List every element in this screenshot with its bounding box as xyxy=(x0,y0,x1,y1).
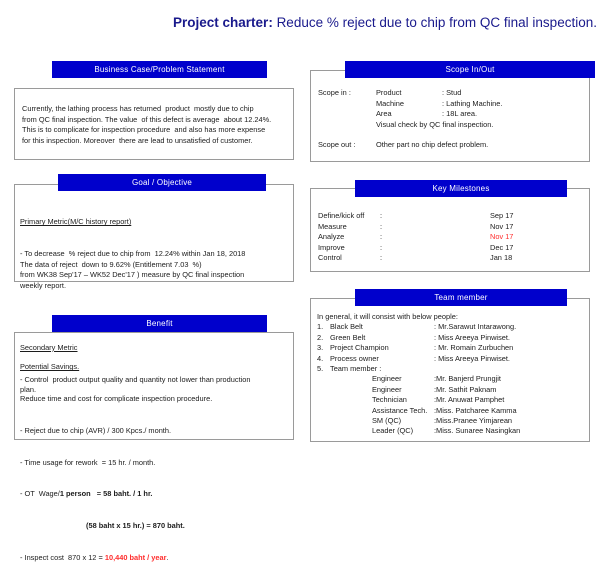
benefit-line-3: - Time usage for rework = 15 hr. / month… xyxy=(20,458,288,469)
team-index: 4. xyxy=(317,354,330,364)
scope-in-row: Machine : Lathing Machine. xyxy=(318,99,590,110)
team-sub-person: :Mr. Banjerd Prungjit xyxy=(434,374,587,384)
milestone-date: Nov 17 xyxy=(490,222,584,233)
scope-in-note: Visual check by QC final inspection. xyxy=(376,120,590,131)
scope-content: Scope in : Product : Stud Machine : Lath… xyxy=(318,88,590,151)
milestone-colon: : xyxy=(380,211,490,222)
scope-in-item-0: Product xyxy=(376,88,442,99)
inspect-cost-total: 10,440 baht / year xyxy=(105,553,167,562)
business-case-header: Business Case/Problem Statement xyxy=(52,61,267,78)
milestone-name: Control xyxy=(318,253,380,264)
milestone-name: Measure xyxy=(318,222,380,233)
milestone-date: Jan 18 xyxy=(490,253,584,264)
ot-wage-prefix: - OT Wage/ xyxy=(20,489,60,498)
milestone-row: Define/kick off : Sep 17 xyxy=(318,211,584,222)
page-title-separator: : xyxy=(268,15,276,30)
page-title-subject: Reduce % reject due to chip from QC fina… xyxy=(277,15,597,30)
inspect-cost-suffix: . xyxy=(166,553,168,562)
milestone-row: Measure : Nov 17 xyxy=(318,222,584,233)
scope-out-value: Other part no chip defect problem. xyxy=(376,140,590,151)
team-sub-role: Assistance Tech. xyxy=(372,406,434,416)
team-role: Project Champion xyxy=(330,343,434,353)
scope-out-label: Scope out : xyxy=(318,140,376,151)
team-sub-person: :Mr. Sathit Paknam xyxy=(434,385,587,395)
milestone-row: Analyze : Nov 17 xyxy=(318,232,584,243)
scope-in-value-2: : 18L area. xyxy=(442,109,590,120)
primary-metric-text: - To decrease % reject due to chip from … xyxy=(20,249,290,291)
team-member-header: Team member xyxy=(355,289,567,306)
benefit-text: Potential Savings. Reduce time and cost … xyxy=(20,341,288,585)
team-sub-row: Engineer :Mr. Banjerd Prungjit xyxy=(317,374,587,384)
team-person: : Mr. Romain Zurbuchen xyxy=(434,343,587,353)
team-role: Process owner xyxy=(330,354,434,364)
potential-savings-title: Potential Savings. xyxy=(20,362,288,373)
benefit-line-5: (58 baht x 15 hr.) = 870 baht. xyxy=(20,521,288,532)
scope-in-row: Area : 18L area. xyxy=(318,109,590,120)
team-person: : Miss Areeya Pinwiset. xyxy=(434,333,587,343)
team-person: : Mr.Sarawut Intarawong. xyxy=(434,322,587,332)
team-sub-role: Engineer xyxy=(372,374,434,384)
scope-in-label: Scope in : xyxy=(318,88,376,99)
team-role: Green Belt xyxy=(330,333,434,343)
team-sub-row: Technician :Mr. Anuwat Pamphet xyxy=(317,395,587,405)
team-sub-person: :Mr. Anuwat Pamphet xyxy=(434,395,587,405)
scope-in-item-1: Machine xyxy=(376,99,442,110)
milestone-name: Analyze xyxy=(318,232,380,243)
scope-spacer xyxy=(318,99,376,110)
team-sub-person: :Miss. Sunaree Nasingkan xyxy=(434,426,587,436)
benefit-line-2: - Reject due to chip (AVR) / 300 Kpcs./ … xyxy=(20,426,288,437)
benefit-header: Benefit xyxy=(52,315,267,332)
team-index: 3. xyxy=(317,343,330,353)
scope-out-row: Scope out : Other part no chip defect pr… xyxy=(318,140,590,151)
scope-header: Scope In/Out xyxy=(345,61,595,78)
team-sub-row: SM (QC) :Miss.Pranee Yimjarean xyxy=(317,416,587,426)
project-charter-slide: Project charter: Reduce % reject due to … xyxy=(0,0,600,450)
milestone-row: Control : Jan 18 xyxy=(318,253,584,264)
benefit-line-6: - Inspect cost 870 x 12 = 10,440 baht / … xyxy=(20,553,288,564)
key-milestones-list: Define/kick off : Sep 17 Measure : Nov 1… xyxy=(318,211,584,264)
team-index: 5. xyxy=(317,364,330,374)
page-title-label: Project charter xyxy=(173,15,268,30)
inspect-cost-prefix: - Inspect cost 870 x 12 = xyxy=(20,553,105,562)
ot-wage-value: 1 person = 58 baht. / 1 hr. xyxy=(60,489,153,498)
scope-in-item-2: Area xyxy=(376,109,442,120)
team-sub-row: Assistance Tech. :Miss. Patcharee Kamma xyxy=(317,406,587,416)
team-intro: In general, it will consist with below p… xyxy=(317,312,587,322)
milestone-colon: : xyxy=(380,222,490,233)
milestone-name: Define/kick off xyxy=(318,211,380,222)
team-index: 2. xyxy=(317,333,330,343)
team-sub-role: Technician xyxy=(372,395,434,405)
team-person xyxy=(434,364,587,374)
team-sub-person: :Miss.Pranee Yimjarean xyxy=(434,416,587,426)
team-index: 1. xyxy=(317,322,330,332)
primary-metric-title: Primary Metric(M/C history report) xyxy=(20,217,290,228)
team-member-list: In general, it will consist with below p… xyxy=(317,312,587,437)
scope-in-value-0: : Stud xyxy=(442,88,590,99)
team-role: Team member : xyxy=(330,364,434,374)
benefit-line-4: - OT Wage/1 person = 58 baht. / 1 hr. xyxy=(20,489,288,500)
benefit-line-1: Reduce time and cost for complicate insp… xyxy=(20,394,288,405)
team-sub-role: Engineer xyxy=(372,385,434,395)
milestone-colon: : xyxy=(380,232,490,243)
team-sub-role: SM (QC) xyxy=(372,416,434,426)
goal-objective-header: Goal / Objective xyxy=(58,174,266,191)
team-sub-person: :Miss. Patcharee Kamma xyxy=(434,406,587,416)
business-case-text: Currently, the lathing process has retur… xyxy=(22,104,288,146)
team-sub-row: Leader (QC) :Miss. Sunaree Nasingkan xyxy=(317,426,587,436)
scope-in-value-1: : Lathing Machine. xyxy=(442,99,590,110)
page-title: Project charter: Reduce % reject due to … xyxy=(170,14,600,31)
key-milestones-header: Key Milestones xyxy=(355,180,567,197)
scope-in-row: Scope in : Product : Stud xyxy=(318,88,590,99)
team-role: Black Belt xyxy=(330,322,434,332)
scope-spacer xyxy=(318,109,376,120)
milestone-colon: : xyxy=(380,253,490,264)
team-row: 3. Project Champion : Mr. Romain Zurbuch… xyxy=(317,343,587,353)
team-sub-row: Engineer :Mr. Sathit Paknam xyxy=(317,385,587,395)
milestone-colon: : xyxy=(380,243,490,254)
team-row: 5. Team member : xyxy=(317,364,587,374)
milestone-row: Improve : Dec 17 xyxy=(318,243,584,254)
team-sub-role: Leader (QC) xyxy=(372,426,434,436)
milestone-name: Improve xyxy=(318,243,380,254)
team-row: 2. Green Belt : Miss Areeya Pinwiset. xyxy=(317,333,587,343)
team-person: : Miss Areeya Pinwiset. xyxy=(434,354,587,364)
milestone-date-highlighted: Nov 17 xyxy=(490,232,584,243)
team-row: 1. Black Belt : Mr.Sarawut Intarawong. xyxy=(317,322,587,332)
milestone-date: Dec 17 xyxy=(490,243,584,254)
milestone-date: Sep 17 xyxy=(490,211,584,222)
team-row: 4. Process owner : Miss Areeya Pinwiset. xyxy=(317,354,587,364)
